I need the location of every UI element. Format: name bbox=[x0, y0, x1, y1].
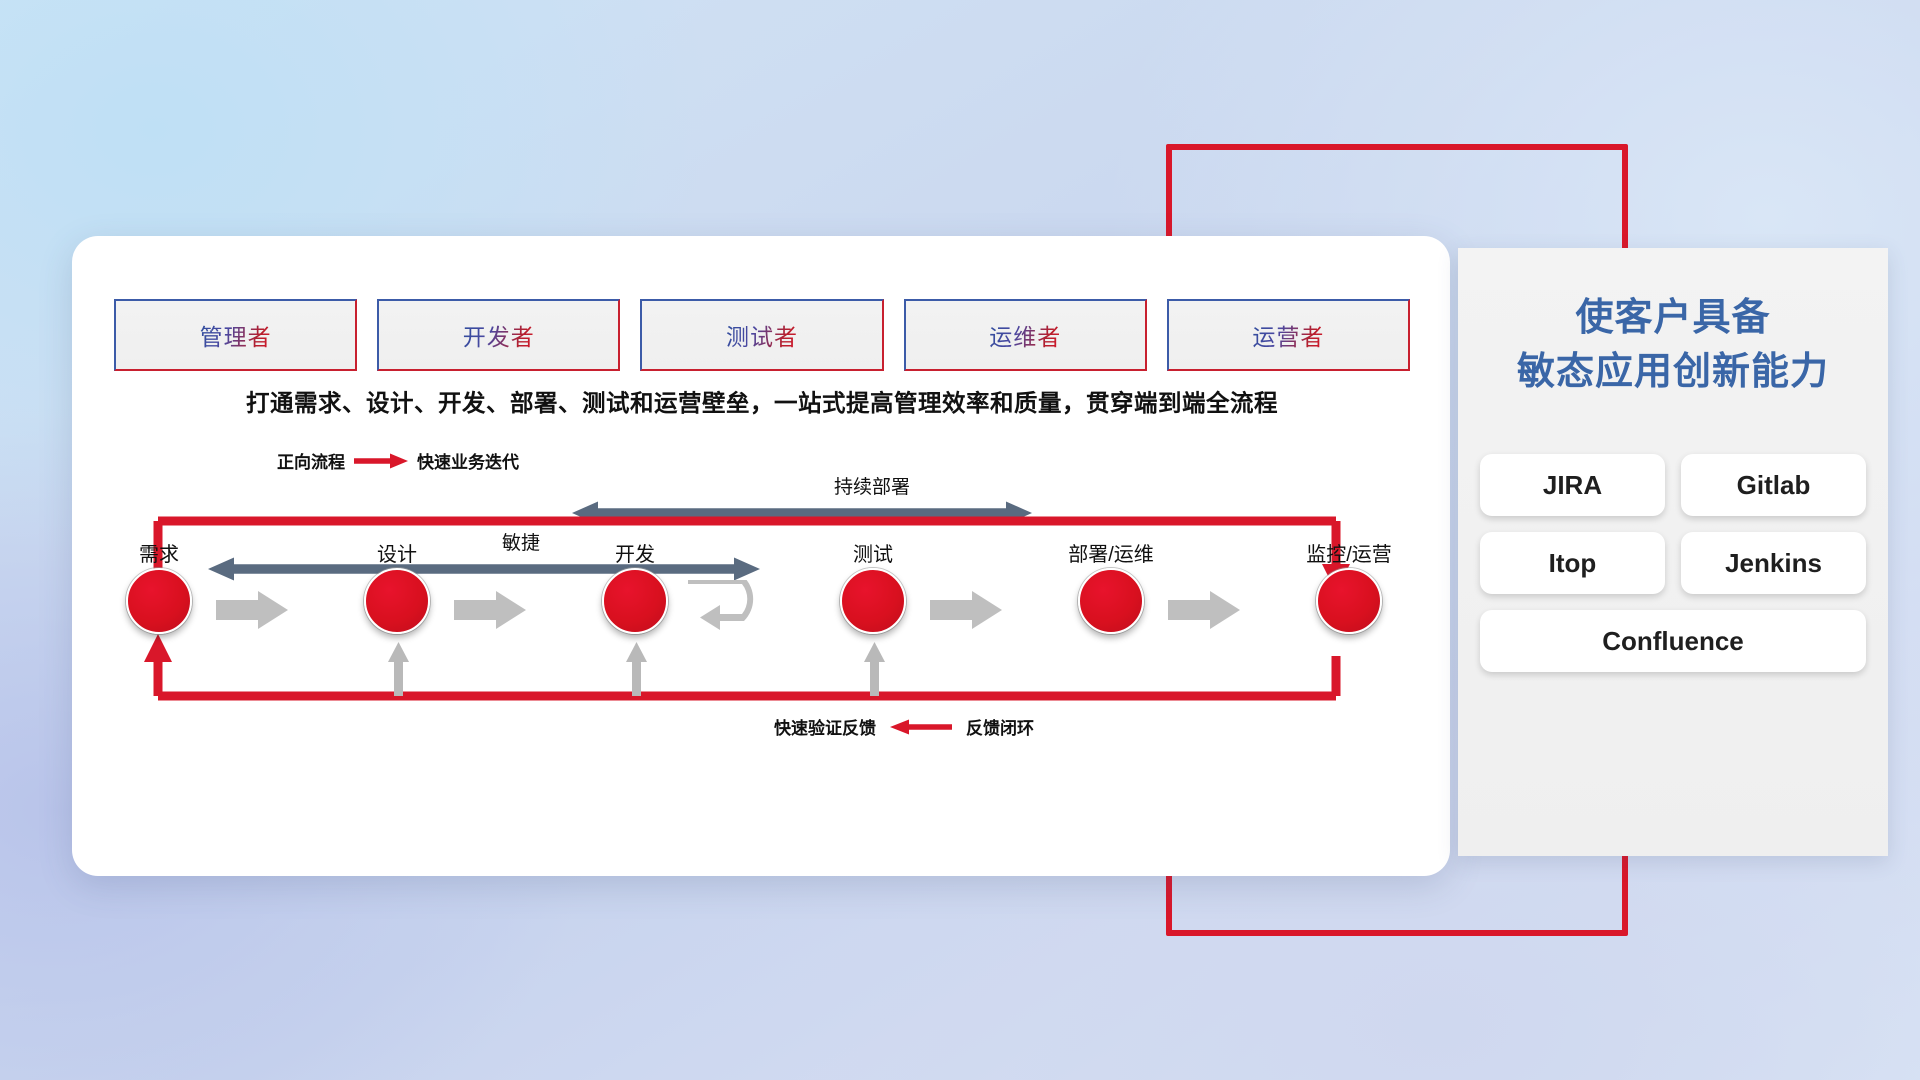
loop-back-arrow-icon bbox=[686, 580, 772, 642]
pipeline-node-dot bbox=[1078, 568, 1144, 634]
main-content-card: 管理者 开发者 测试者 运维者 运营者 打通需求、设计、开发、部署、测试和运营壁… bbox=[72, 236, 1450, 876]
role-box-tester[interactable]: 测试者 bbox=[640, 299, 883, 371]
span-label-continuous-deployment: 持续部署 bbox=[834, 472, 910, 499]
panel-title: 使客户具备 敏态应用创新能力 bbox=[1458, 292, 1888, 400]
legend-forward-left-label: 正向流程 bbox=[277, 448, 345, 473]
pipeline-node-label: 部署/运维 bbox=[1068, 538, 1154, 567]
pipeline-node-label: 测试 bbox=[853, 538, 893, 567]
arrow-right-block-icon bbox=[1168, 590, 1240, 630]
legend-feedback-right-label: 反馈闭环 bbox=[966, 714, 1034, 739]
card-subtitle: 打通需求、设计、开发、部署、测试和运营壁垒，一站式提高管理效率和质量，贯穿端到端… bbox=[112, 384, 1412, 418]
role-box-developer[interactable]: 开发者 bbox=[377, 299, 620, 371]
role-label: 运营者 bbox=[1252, 318, 1324, 352]
role-label: 管理者 bbox=[200, 318, 272, 352]
arrow-right-block-icon bbox=[216, 590, 288, 630]
legend-forward-right-label: 快速业务迭代 bbox=[417, 448, 519, 473]
pipeline-node-label: 监控/运营 bbox=[1306, 538, 1392, 567]
role-label: 测试者 bbox=[726, 318, 798, 352]
pipeline-node-dot bbox=[840, 568, 906, 634]
span-label-agile: 敏捷 bbox=[502, 528, 540, 555]
legend-feedback-loop: 快速验证反馈 反馈闭环 bbox=[774, 714, 1034, 739]
pipeline-node-dot bbox=[602, 568, 668, 634]
legend-forward-flow: 正向流程 快速业务迭代 bbox=[277, 448, 519, 473]
role-box-manager[interactable]: 管理者 bbox=[114, 299, 357, 371]
arrow-left-icon bbox=[890, 719, 952, 735]
pipeline-node-dot bbox=[364, 568, 430, 634]
tool-chip-jenkins[interactable]: Jenkins bbox=[1681, 532, 1866, 594]
pipeline-node-label: 开发 bbox=[615, 538, 655, 567]
panel-title-line2: 敏态应用创新能力 bbox=[1458, 346, 1888, 400]
pipeline-node-label: 设计 bbox=[377, 538, 417, 567]
pipeline-node-dot bbox=[1316, 568, 1382, 634]
legend-feedback-left-label: 快速验证反馈 bbox=[774, 714, 876, 739]
tool-chip-confluence[interactable]: Confluence bbox=[1480, 610, 1866, 672]
role-label: 开发者 bbox=[463, 318, 535, 352]
tool-chip-gitlab[interactable]: Gitlab bbox=[1681, 454, 1866, 516]
tool-chip-itop[interactable]: Itop bbox=[1480, 532, 1665, 594]
panel-title-line1: 使客户具备 bbox=[1458, 292, 1888, 346]
role-box-operations[interactable]: 运营者 bbox=[1167, 299, 1410, 371]
pipeline: 需求 设计 开发 bbox=[116, 568, 1406, 698]
role-box-ops[interactable]: 运维者 bbox=[904, 299, 1147, 371]
pipeline-node-dot bbox=[126, 568, 192, 634]
value-panel: 使客户具备 敏态应用创新能力 JIRA Gitlab Itop Jenkins … bbox=[1458, 248, 1888, 856]
arrow-right-icon bbox=[354, 453, 408, 469]
role-label: 运维者 bbox=[989, 318, 1061, 352]
double-arrow-icon-continuous-deployment bbox=[572, 500, 1032, 526]
pipeline-node-label: 需求 bbox=[139, 538, 179, 567]
slide-canvas: 管理者 开发者 测试者 运维者 运营者 打通需求、设计、开发、部署、测试和运营壁… bbox=[0, 0, 1920, 1080]
role-box-row: 管理者 开发者 测试者 运维者 运营者 bbox=[114, 299, 1410, 371]
tool-chip-list: JIRA Gitlab Itop Jenkins Confluence bbox=[1480, 454, 1866, 672]
tool-chip-jira[interactable]: JIRA bbox=[1480, 454, 1665, 516]
arrow-right-block-icon bbox=[454, 590, 526, 630]
arrow-right-block-icon bbox=[930, 590, 1002, 630]
